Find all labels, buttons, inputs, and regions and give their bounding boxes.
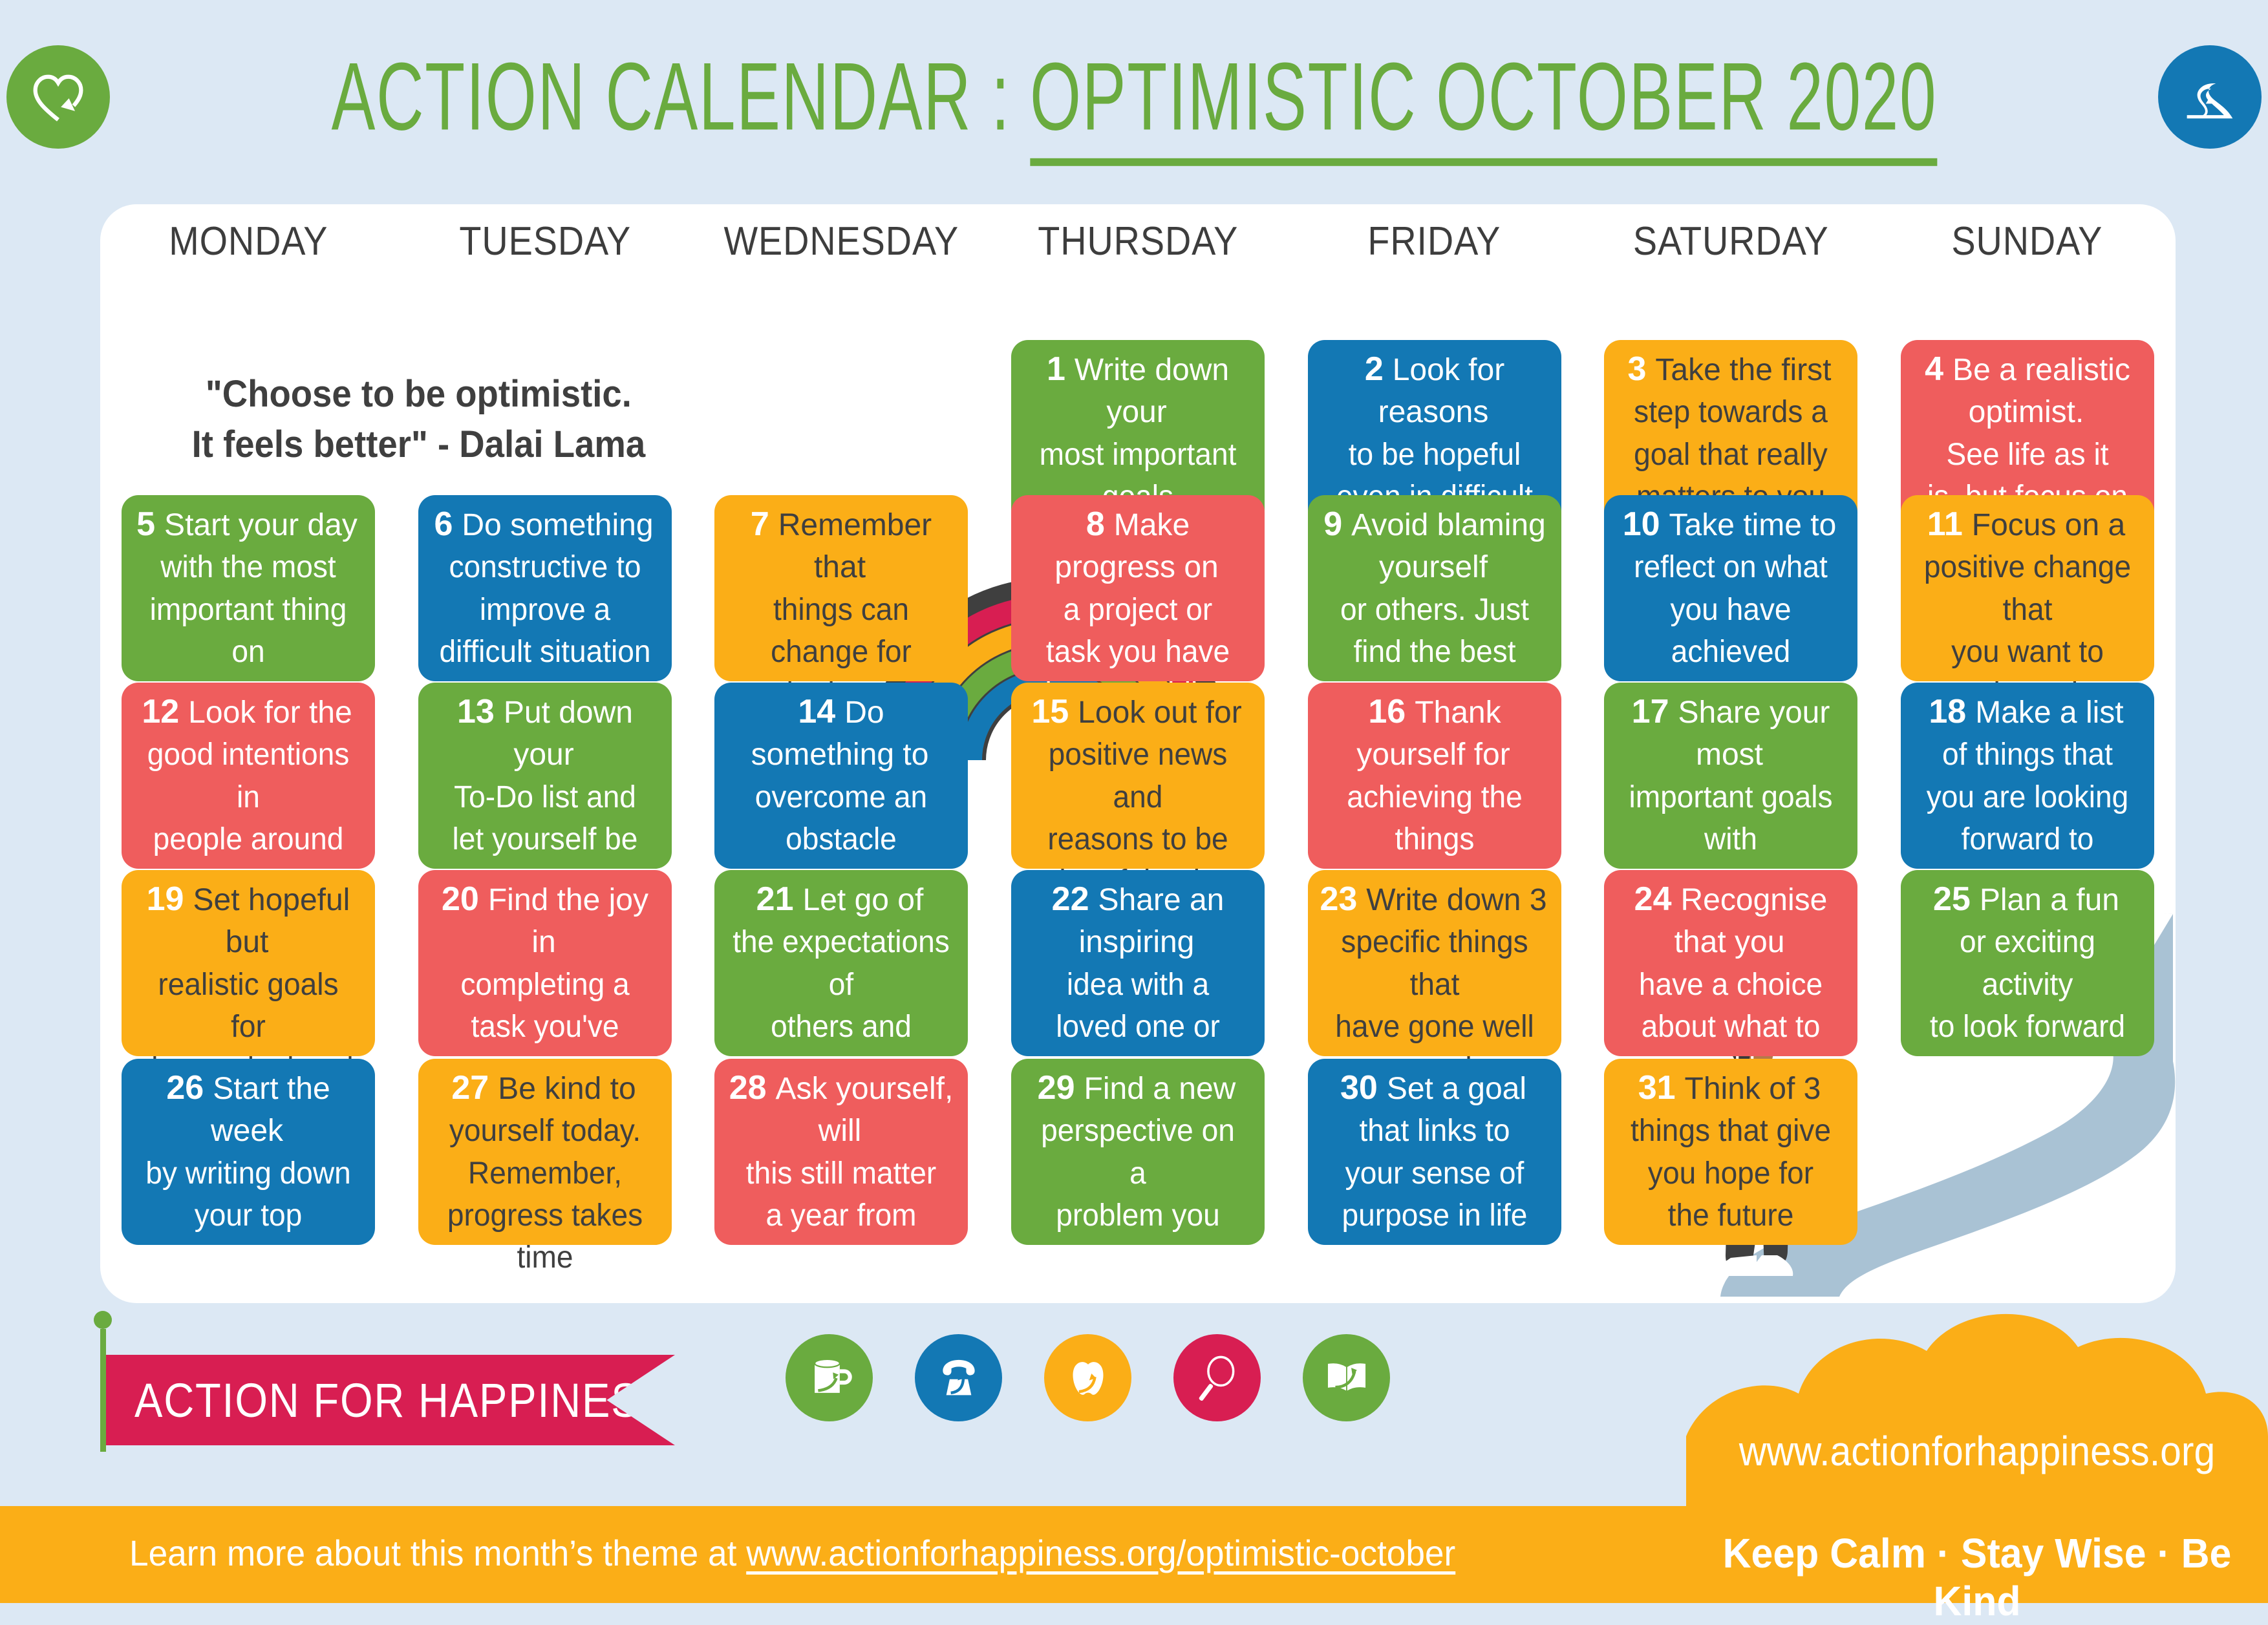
day-text-line: your sense of bbox=[1323, 1152, 1546, 1195]
day-text-line: by writing down bbox=[136, 1152, 360, 1195]
day-number: 7 bbox=[751, 505, 769, 543]
day-card-26[interactable]: 26Start the weekby writing downyour top … bbox=[122, 1059, 375, 1245]
day-card-5[interactable]: 5Start your daywith the mostimportant th… bbox=[122, 495, 375, 681]
day-number: 1 bbox=[1047, 350, 1065, 388]
day-number: 9 bbox=[1323, 505, 1342, 543]
day-card-14[interactable]: 14Do something toovercome an obstacleyou… bbox=[714, 683, 968, 869]
day-card-23[interactable]: 23Write down 3specific things thathave g… bbox=[1308, 870, 1561, 1056]
day-text-line: idea with a bbox=[1026, 964, 1250, 1006]
day-text-line: to be hopeful bbox=[1323, 434, 1546, 476]
day-text-line: completing a task you've bbox=[433, 964, 657, 1048]
day-text-line: reflect on what bbox=[1619, 546, 1843, 588]
day-number: 26 bbox=[166, 1069, 204, 1107]
day-card-16[interactable]: 16Thank yourself forachieving the things… bbox=[1308, 683, 1561, 869]
day-number: 2 bbox=[1365, 350, 1384, 388]
mug-icon bbox=[786, 1334, 873, 1421]
day-text: Write down your bbox=[1072, 353, 1229, 429]
day-text: Make progress on bbox=[1054, 508, 1221, 584]
day-number: 19 bbox=[147, 880, 184, 918]
day-text-line: have gone well bbox=[1323, 1006, 1546, 1048]
day-number: 14 bbox=[798, 693, 835, 730]
day-text-line: the future bbox=[1619, 1195, 1843, 1237]
day-text-line: of things that bbox=[1916, 734, 2139, 776]
day-number: 23 bbox=[1320, 880, 1357, 918]
day-text: Look for the bbox=[186, 696, 355, 730]
day-number: 29 bbox=[1038, 1069, 1075, 1107]
day-card-17[interactable]: 17Share your mostimportant goals withpeo… bbox=[1604, 683, 1857, 869]
day-text-line: difficult situation bbox=[433, 631, 657, 673]
day-number: 21 bbox=[756, 880, 794, 918]
day-card-24[interactable]: 24Recognise that youhave a choiceabout w… bbox=[1604, 870, 1857, 1056]
day-text-line: & plans bbox=[136, 1279, 360, 1303]
day-card-9[interactable]: 9Avoid blaming yourselfor others. Justfi… bbox=[1308, 495, 1561, 681]
day-text-line: change for bbox=[729, 631, 953, 673]
day-text-line: goal that really bbox=[1619, 434, 1843, 476]
day-text-line: progress takes time bbox=[433, 1195, 657, 1279]
day-card-10[interactable]: 10Take time toreflect on whatyou have ac… bbox=[1604, 495, 1857, 681]
day-text-line: your top priorities bbox=[136, 1195, 360, 1279]
day-text: Set hopeful but bbox=[190, 883, 350, 959]
day-card-30[interactable]: 30Set a goalthat links toyour sense ofpu… bbox=[1308, 1059, 1561, 1245]
day-text: Start your day bbox=[162, 508, 360, 542]
green-dot-decoration bbox=[94, 1311, 112, 1329]
day-text: Recognise that you bbox=[1674, 883, 1828, 959]
day-text-line: or others. Just bbox=[1323, 589, 1546, 631]
day-text: Take time to bbox=[1667, 508, 1839, 542]
day-text: Think of 3 bbox=[1682, 1072, 1824, 1106]
weekday-header-row: MONDAY TUESDAY WEDNESDAY THURSDAY FRIDAY… bbox=[100, 218, 2176, 290]
day-number: 11 bbox=[1927, 505, 1963, 543]
day-card-27[interactable]: 27Be kind toyourself today. Remember,pro… bbox=[418, 1059, 672, 1245]
day-text-line: good intentions in bbox=[136, 734, 360, 818]
day-text: Be a realistic optimist. bbox=[1950, 353, 2130, 429]
day-number: 17 bbox=[1632, 693, 1669, 730]
day-text-line: things that give bbox=[1619, 1110, 1843, 1152]
day-text: Share an inspiring bbox=[1079, 883, 1225, 959]
day-text-line: things can bbox=[729, 589, 953, 631]
day-text-line: important thing on bbox=[136, 589, 360, 674]
day-number: 22 bbox=[1052, 880, 1089, 918]
day-text-line: To-Do list and bbox=[433, 776, 657, 818]
day-text: Plan a fun bbox=[1977, 883, 2122, 917]
day-text-line: achieving the things bbox=[1323, 776, 1546, 861]
weekday-thursday: THURSDAY bbox=[1005, 218, 1272, 290]
day-card-grid: 1Write down yourmost important goalsfor … bbox=[100, 301, 2176, 1297]
day-text-line: positive news and bbox=[1026, 734, 1250, 818]
day-card-18[interactable]: 18Make a listof things thatyou are looki… bbox=[1901, 683, 2154, 869]
day-text: Write down 3 bbox=[1364, 883, 1549, 917]
day-text: Do something bbox=[459, 508, 656, 542]
day-text-line: that links to bbox=[1323, 1110, 1546, 1152]
day-text-line: with the most bbox=[136, 546, 360, 588]
day-text-line: See life as it bbox=[1916, 434, 2139, 476]
day-text-line: reasons to be bbox=[1026, 818, 1250, 860]
day-text-line: purpose in life bbox=[1323, 1195, 1546, 1237]
day-number: 28 bbox=[729, 1069, 767, 1107]
site-url[interactable]: www.actionforhappiness.org bbox=[1709, 1427, 2245, 1475]
day-card-11[interactable]: 11Focus on apositive change thatyou want… bbox=[1901, 495, 2154, 681]
day-text-line: you want to bbox=[1916, 631, 2139, 673]
day-text-line: forward to bbox=[1916, 818, 2139, 860]
day-text-line: let yourself be bbox=[433, 818, 657, 860]
day-text-line: or exciting activity bbox=[1916, 921, 2139, 1006]
day-text-line: constructive to bbox=[433, 546, 657, 588]
day-number: 27 bbox=[451, 1069, 489, 1107]
green-line-decoration bbox=[100, 1329, 106, 1452]
day-text: Share your most bbox=[1676, 696, 1830, 772]
day-text-line: find the best bbox=[1323, 631, 1546, 673]
day-number: 20 bbox=[442, 880, 479, 918]
day-text-line: you have achieved bbox=[1619, 589, 1843, 674]
day-number: 10 bbox=[1623, 505, 1660, 543]
day-number: 13 bbox=[457, 693, 495, 730]
day-text-line: you are looking bbox=[1916, 776, 2139, 818]
day-number: 24 bbox=[1634, 880, 1672, 918]
weekday-saturday: SATURDAY bbox=[1598, 218, 1865, 290]
day-text-line: to look forward bbox=[1916, 1006, 2139, 1048]
day-text: Avoid blaming yourself bbox=[1349, 508, 1546, 584]
poster-header: ACTION CALENDAR : OPTIMISTIC OCTOBER 202… bbox=[0, 0, 2268, 194]
day-text: Start the week bbox=[210, 1072, 330, 1148]
weekday-sunday: SUNDAY bbox=[1894, 218, 2161, 290]
day-text: Do something to bbox=[751, 696, 932, 772]
day-number: 12 bbox=[142, 693, 179, 730]
day-number: 25 bbox=[1933, 880, 1971, 918]
day-text: Focus on a bbox=[1969, 508, 2128, 542]
magnifying-glass-icon bbox=[1173, 1334, 1261, 1421]
day-text: Set a goal bbox=[1384, 1072, 1529, 1106]
day-text: Look for reasons bbox=[1378, 353, 1505, 429]
winding-road-icon bbox=[2158, 45, 2262, 149]
day-text-line: positive change that bbox=[1916, 546, 2139, 631]
day-text-line: improve a bbox=[433, 589, 657, 631]
day-text-line: perspective on a bbox=[1026, 1110, 1250, 1195]
day-text-line: overcome an obstacle bbox=[729, 776, 953, 861]
day-text-line: yourself today. Remember, bbox=[433, 1110, 657, 1195]
day-card-31[interactable]: 31Think of 3things that giveyou hope for… bbox=[1604, 1059, 1857, 1245]
open-book-icon bbox=[1303, 1334, 1390, 1421]
day-text-line: about what to bbox=[1619, 1006, 1843, 1048]
title-theme: OPTIMISTIC OCTOBER 2020 bbox=[1030, 43, 1937, 166]
day-card-19[interactable]: 19Set hopeful butrealistic goals forthe … bbox=[122, 870, 375, 1056]
day-card-25[interactable]: 25Plan a funor exciting activityto look … bbox=[1901, 870, 2154, 1056]
day-card-13[interactable]: 13Put down yourTo-Do list andlet yoursel… bbox=[418, 683, 672, 869]
day-text-line: to bbox=[1916, 1048, 2139, 1090]
day-number: 18 bbox=[1929, 693, 1966, 730]
day-text-line: this still matter bbox=[729, 1152, 953, 1195]
day-number: 4 bbox=[1925, 350, 1943, 388]
day-number: 3 bbox=[1627, 350, 1646, 388]
day-card-29[interactable]: 29Find a newperspective on aproblem you … bbox=[1011, 1059, 1265, 1245]
day-number: 31 bbox=[1638, 1069, 1676, 1107]
day-text-line: specific things that bbox=[1323, 921, 1546, 1006]
learn-more-link[interactable]: www.actionforhappiness.org/optimistic-oc… bbox=[746, 1533, 1455, 1573]
day-text-line: realistic goals for bbox=[136, 964, 360, 1048]
day-text: Ask yourself, will bbox=[773, 1072, 954, 1148]
day-card-6[interactable]: 6Do somethingconstructive toimprove adif… bbox=[418, 495, 672, 681]
footer-icon-row bbox=[786, 1334, 1390, 1421]
day-card-8[interactable]: 8Make progress ona project ortask you ha… bbox=[1011, 495, 1265, 681]
day-number: 15 bbox=[1031, 693, 1069, 730]
day-text-line: you hope for bbox=[1619, 1152, 1843, 1195]
day-number: 30 bbox=[1340, 1069, 1378, 1107]
tagline: Keep Calm · Stay Wise · Be Kind bbox=[1701, 1529, 2254, 1625]
day-text-line: a project or bbox=[1026, 589, 1250, 631]
day-text-line: important goals with bbox=[1619, 776, 1843, 861]
weekday-monday: MONDAY bbox=[115, 218, 382, 290]
day-text-line: have a choice bbox=[1619, 964, 1843, 1006]
day-text: Make a list bbox=[1973, 696, 2126, 730]
day-text: Remember that bbox=[776, 508, 932, 584]
calendar-board: MONDAY TUESDAY WEDNESDAY THURSDAY FRIDAY… bbox=[100, 204, 2176, 1303]
day-text: Take the first bbox=[1653, 353, 1834, 387]
apple-icon bbox=[1044, 1334, 1131, 1421]
day-text: Put down your bbox=[501, 696, 633, 772]
day-number: 5 bbox=[136, 505, 155, 543]
weekday-friday: FRIDAY bbox=[1301, 218, 1568, 290]
day-text: Let go of bbox=[800, 883, 926, 917]
day-text: Be kind to bbox=[495, 1072, 638, 1106]
day-text-line: loved one or bbox=[1026, 1006, 1250, 1048]
day-text-line: now? bbox=[729, 1237, 953, 1279]
day-card-15[interactable]: 15Look out forpositive news andreasons t… bbox=[1011, 683, 1265, 869]
page-title: ACTION CALENDAR : OPTIMISTIC OCTOBER 202… bbox=[155, 51, 2113, 143]
learn-more-prefix: Learn more about this month’s theme at bbox=[129, 1533, 746, 1573]
day-number: 16 bbox=[1368, 693, 1406, 730]
day-card-12[interactable]: 12Look for thegood intentions inpeople a… bbox=[122, 683, 375, 869]
day-number: 8 bbox=[1086, 505, 1105, 543]
day-card-20[interactable]: 20Find the joy incompleting a task you'v… bbox=[418, 870, 672, 1056]
day-text-line: step towards a bbox=[1619, 391, 1843, 433]
learn-more-text: Learn more about this month’s theme at w… bbox=[129, 1532, 1455, 1574]
day-card-7[interactable]: 7Remember thatthings canchange forthe be… bbox=[714, 495, 968, 681]
day-number: 6 bbox=[434, 505, 453, 543]
day-card-21[interactable]: 21Let go ofthe expectations ofothers and… bbox=[714, 870, 968, 1056]
day-text-line: a year from bbox=[729, 1195, 953, 1237]
day-card-28[interactable]: 28Ask yourself, willthis still mattera y… bbox=[714, 1059, 968, 1245]
day-text: Find a new bbox=[1082, 1072, 1239, 1106]
day-text-line: the expectations of bbox=[729, 921, 953, 1006]
title-prefix: ACTION CALENDAR : bbox=[331, 43, 1029, 151]
action-for-happiness-banner: ACTION FOR HAPPINESS bbox=[106, 1355, 675, 1445]
telephone-icon bbox=[915, 1334, 1002, 1421]
banner-label: ACTION FOR HAPPINESS bbox=[134, 1373, 670, 1428]
day-text-line: task you have bbox=[1026, 631, 1250, 673]
day-text: Look out for bbox=[1075, 696, 1245, 730]
weekday-tuesday: TUESDAY bbox=[412, 218, 679, 290]
heart-arrow-icon bbox=[6, 45, 110, 149]
day-text: Find the joy in bbox=[486, 883, 648, 959]
day-text-line: problem you face bbox=[1026, 1195, 1250, 1279]
day-card-22[interactable]: 22Share an inspiringidea with aloved one… bbox=[1011, 870, 1265, 1056]
weekday-wednesday: WEDNESDAY bbox=[708, 218, 975, 290]
